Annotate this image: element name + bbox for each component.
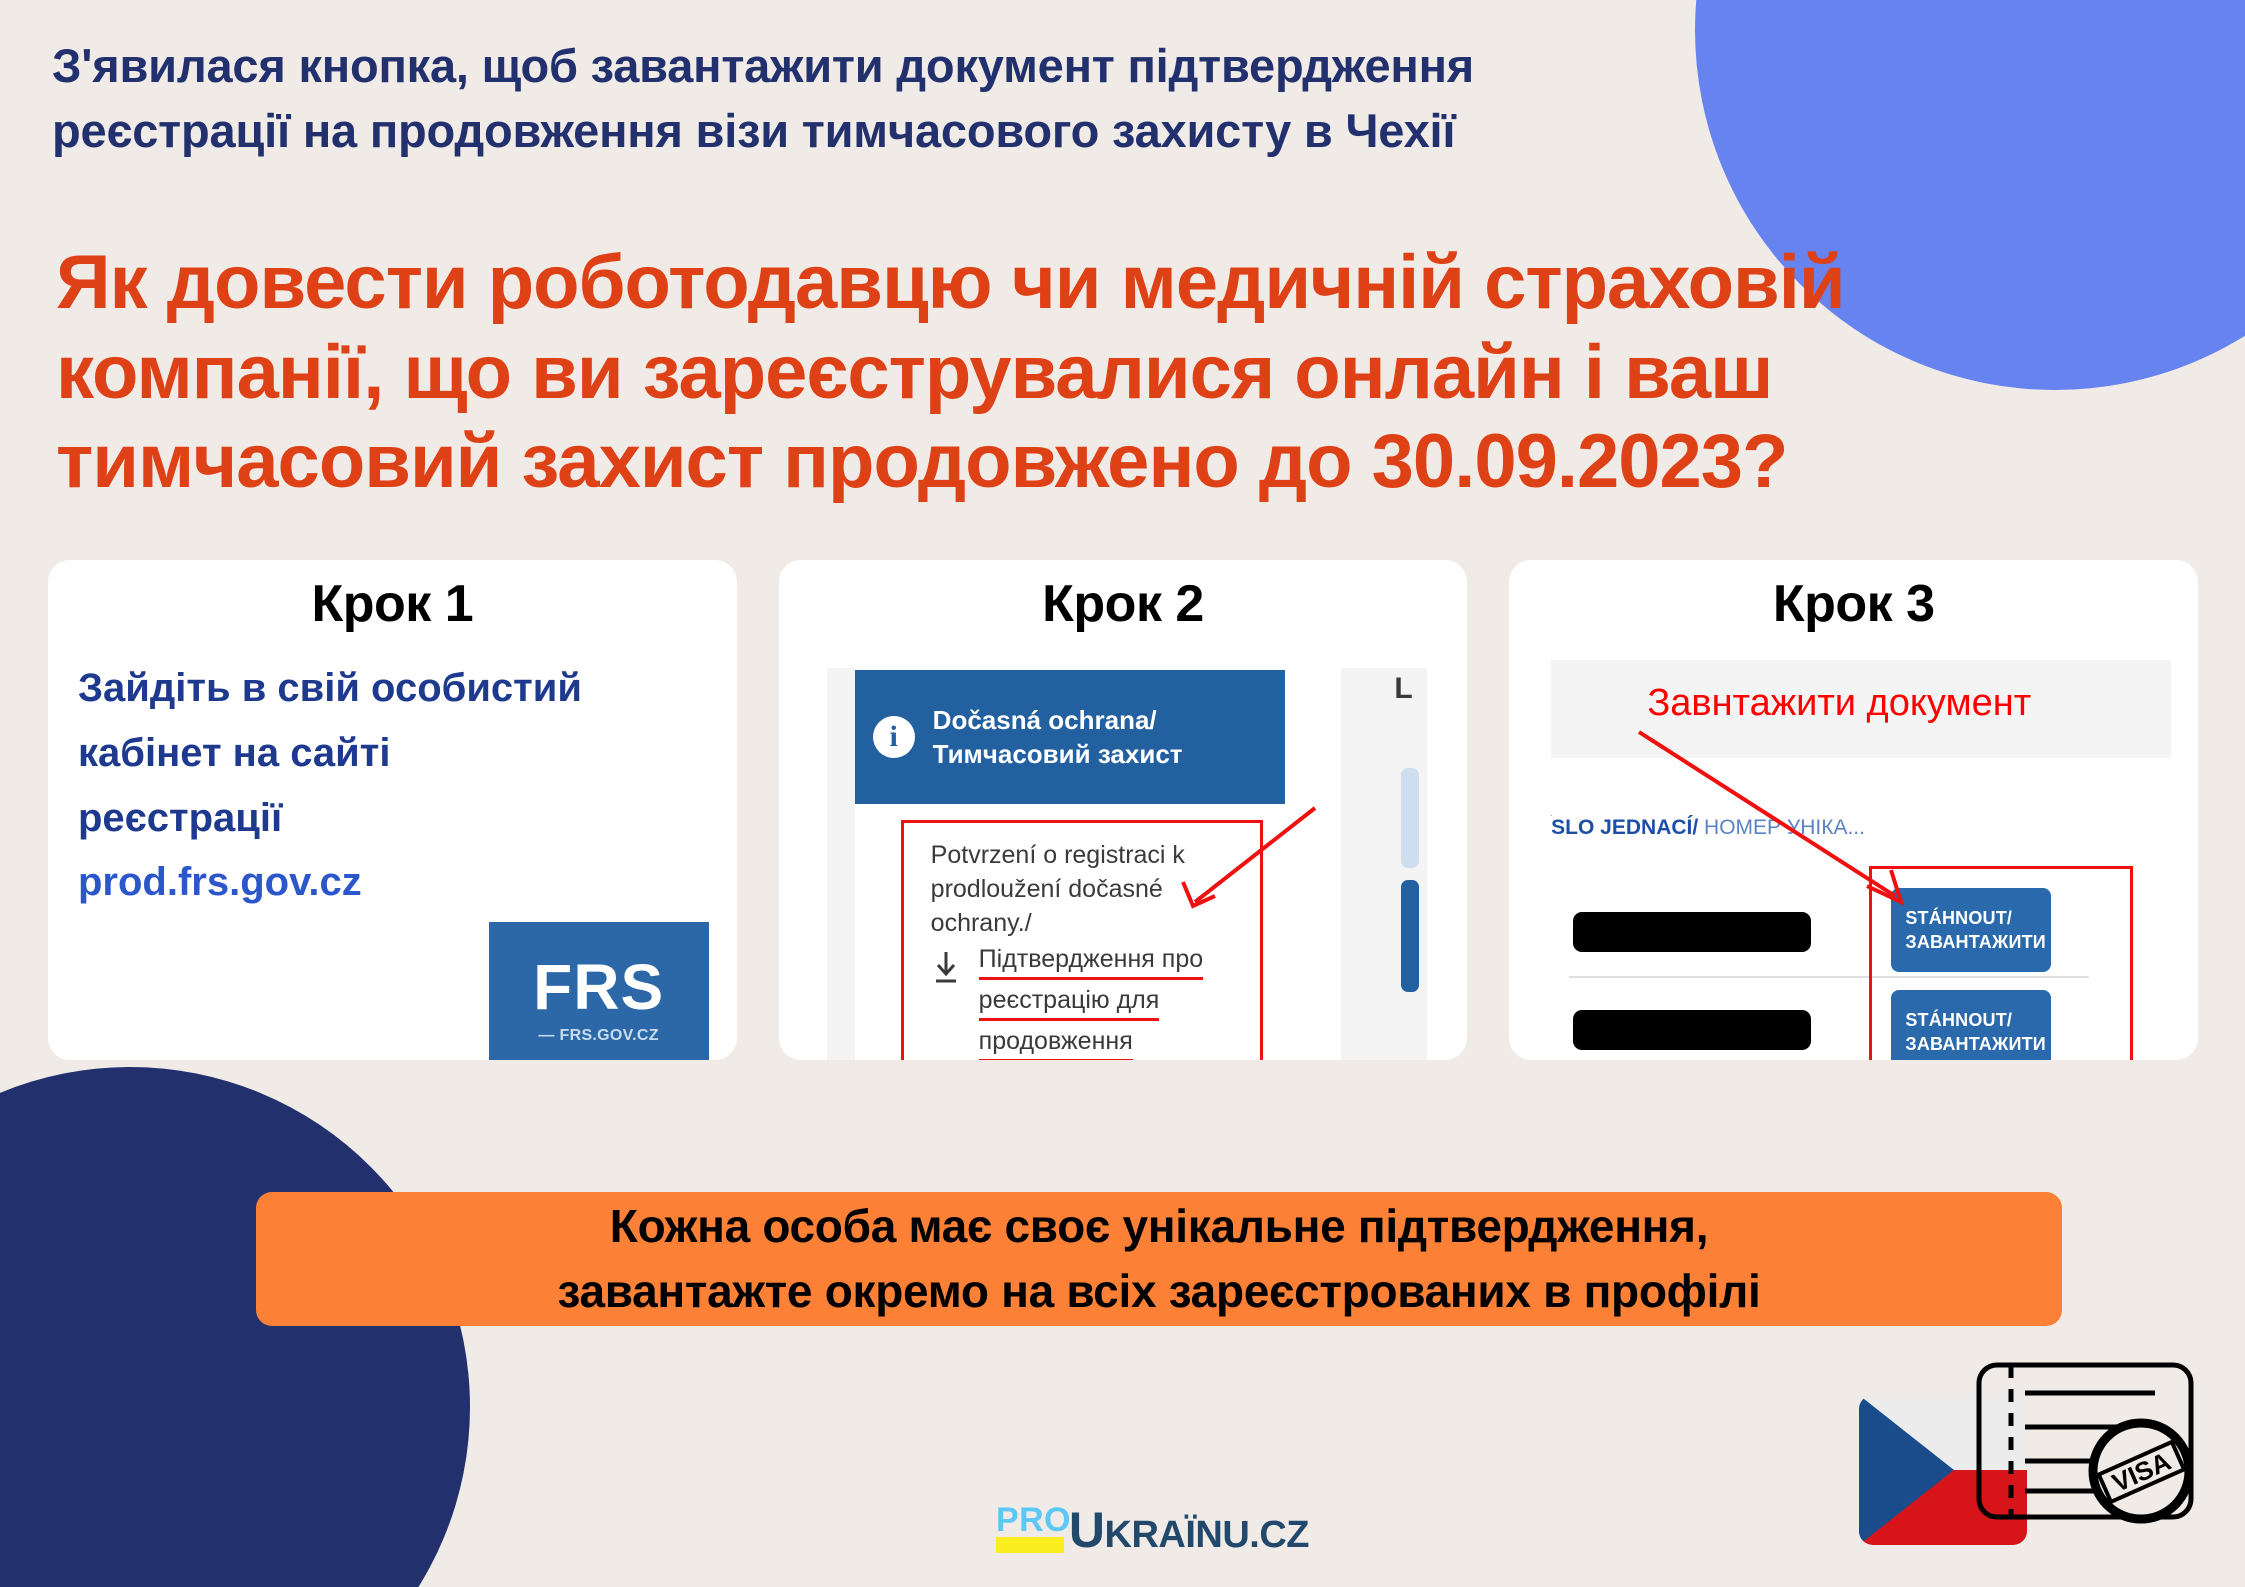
partial-button-stub-light [1401,768,1419,868]
step-3-screenshot: Завнтажити документ ÍSLO JEDNACÍ/ НОМЕР … [1551,660,2171,1060]
redacted-value-row-2 [1573,1010,1811,1050]
headline-line-3: тимчасовий захист продовжено до 30.09.20… [56,417,2116,507]
step-2-screenshot: L i Dočasná ochrana/ Тимчасовий захист P… [827,668,1427,1060]
table-column-header-cz: ÍSLO JEDNACÍ/ [1551,816,1698,839]
logo-main-rest: KRAÏNU.CZ [1105,1514,1309,1556]
step-1-body: Зайдіть в свій особистий кабінет на сайт… [48,634,737,915]
step-2-title: Крок 2 [779,560,1468,634]
step-1-title: Крок 1 [48,560,737,634]
steps-container: Крок 1 Зайдіть в свій особистий кабінет … [48,560,2198,1070]
partial-button-stub-dark [1401,880,1419,992]
download-arrow-icon [933,950,959,984]
document-name-cz-line-2: prodloužení dočasné [931,872,1231,906]
banner-label-ua: Тимчасовий захист [933,737,1183,771]
logo-main-capital: U [1069,1502,1105,1558]
document-name-ua-line-2: реєстрацію для [979,983,1160,1021]
annotation-highlight-box [1869,866,2133,1060]
infographic-page: З'явилася кнопка, щоб завантажити докуме… [0,0,2245,1587]
banner-label: Dočasná ochrana/ Тимчасовий захист [933,703,1183,772]
subheading-line-1: З'явилася кнопка, щоб завантажити докуме… [52,34,1952,99]
logo-pro-text: PRO [996,1504,1071,1536]
document-name-ua-line-1: Підтвердження про [979,942,1203,980]
step-card-1: Крок 1 Зайдіть в свій особистий кабінет … [48,560,737,1060]
frs-logo-wordmark: FRS [533,955,664,1019]
subheading: З'явилася кнопка, щоб завантажити докуме… [52,34,1952,164]
redacted-value-row-1 [1573,912,1811,952]
partial-label-text: L [1394,672,1412,706]
info-icon: i [873,716,915,758]
download-annotation-label: Завнтажити документ [1647,682,2031,725]
step-1-line-2: кабінет на сайті [78,721,707,786]
headline-line-2: компанії, що ви зареєструвалися онлайн і… [56,328,2116,418]
notice-line-1: Кожна особа має своє унікальне підтвердж… [610,1194,1708,1259]
step-card-3: Крок 3 Завнтажити документ ÍSLO JEDNACÍ/… [1509,560,2198,1060]
table-column-header-ua: НОМЕР УНІКА... [1704,816,1865,839]
headline-line-1: Як довести роботодавцю чи медичній страх… [56,238,2116,328]
decorative-circle-bottom-left [0,1067,470,1587]
document-name-ua: Підтвердження про реєстрацію для продовж… [979,942,1231,1060]
czech-flag-icon [1859,1395,2027,1545]
document-name-cz-line-3: ochrany./ [931,906,1231,940]
temporary-protection-banner: i Dočasná ochrana/ Тимчасовий захист [855,670,1285,804]
document-link-block[interactable]: Potvrzení o registraci k prodloužení doč… [931,838,1231,1060]
document-name-ua-wrap: Підтвердження про реєстрацію для продовж… [931,942,1231,1060]
page-title: Як довести роботодавцю чи медичній страх… [56,238,2116,507]
step-3-title: Крок 3 [1509,560,2198,634]
frs-logo: FRS — FRS.GOV.CZ [489,922,709,1060]
site-logo[interactable]: PRO UKRAÏNU.CZ [996,1504,1309,1553]
frs-logo-domain: — FRS.GOV.CZ [538,1027,658,1045]
logo-ukraine-flag-bar [996,1537,1064,1553]
logo-main-text: UKRAÏNU.CZ [1069,1508,1309,1553]
registration-site-url[interactable]: prod.frs.gov.cz [78,850,707,915]
logo-pro-block: PRO [996,1504,1071,1553]
subheading-line-2: реєстрації на продовження візи тимчасово… [52,99,1952,164]
step-card-2: Крок 2 L i Dočasná ochrana/ Тимчасовий з… [779,560,1468,1060]
notice-line-2: завантажте окремо на всіх зареєстрованих… [558,1259,1761,1324]
step-1-line-3: реєстрації [78,786,707,851]
banner-label-cz: Dočasná ochrana/ [933,703,1183,737]
step-1-line-1: Зайдіть в свій особистий [78,656,707,721]
table-column-header: ÍSLO JEDNACÍ/ НОМЕР УНІКА... [1551,816,1865,840]
document-name-cz: Potvrzení o registraci k prodloužení doč… [931,838,1231,940]
notice-banner: Кожна особа має своє унікальне підтвердж… [256,1192,2062,1326]
visa-document-graphic: VISA [1859,1331,2219,1581]
document-name-ua-line-3: продовження [979,1024,1133,1060]
document-name-cz-line-1: Potvrzení o registraci k [931,838,1231,872]
visa-stamp-icon: VISA [2093,1423,2189,1519]
